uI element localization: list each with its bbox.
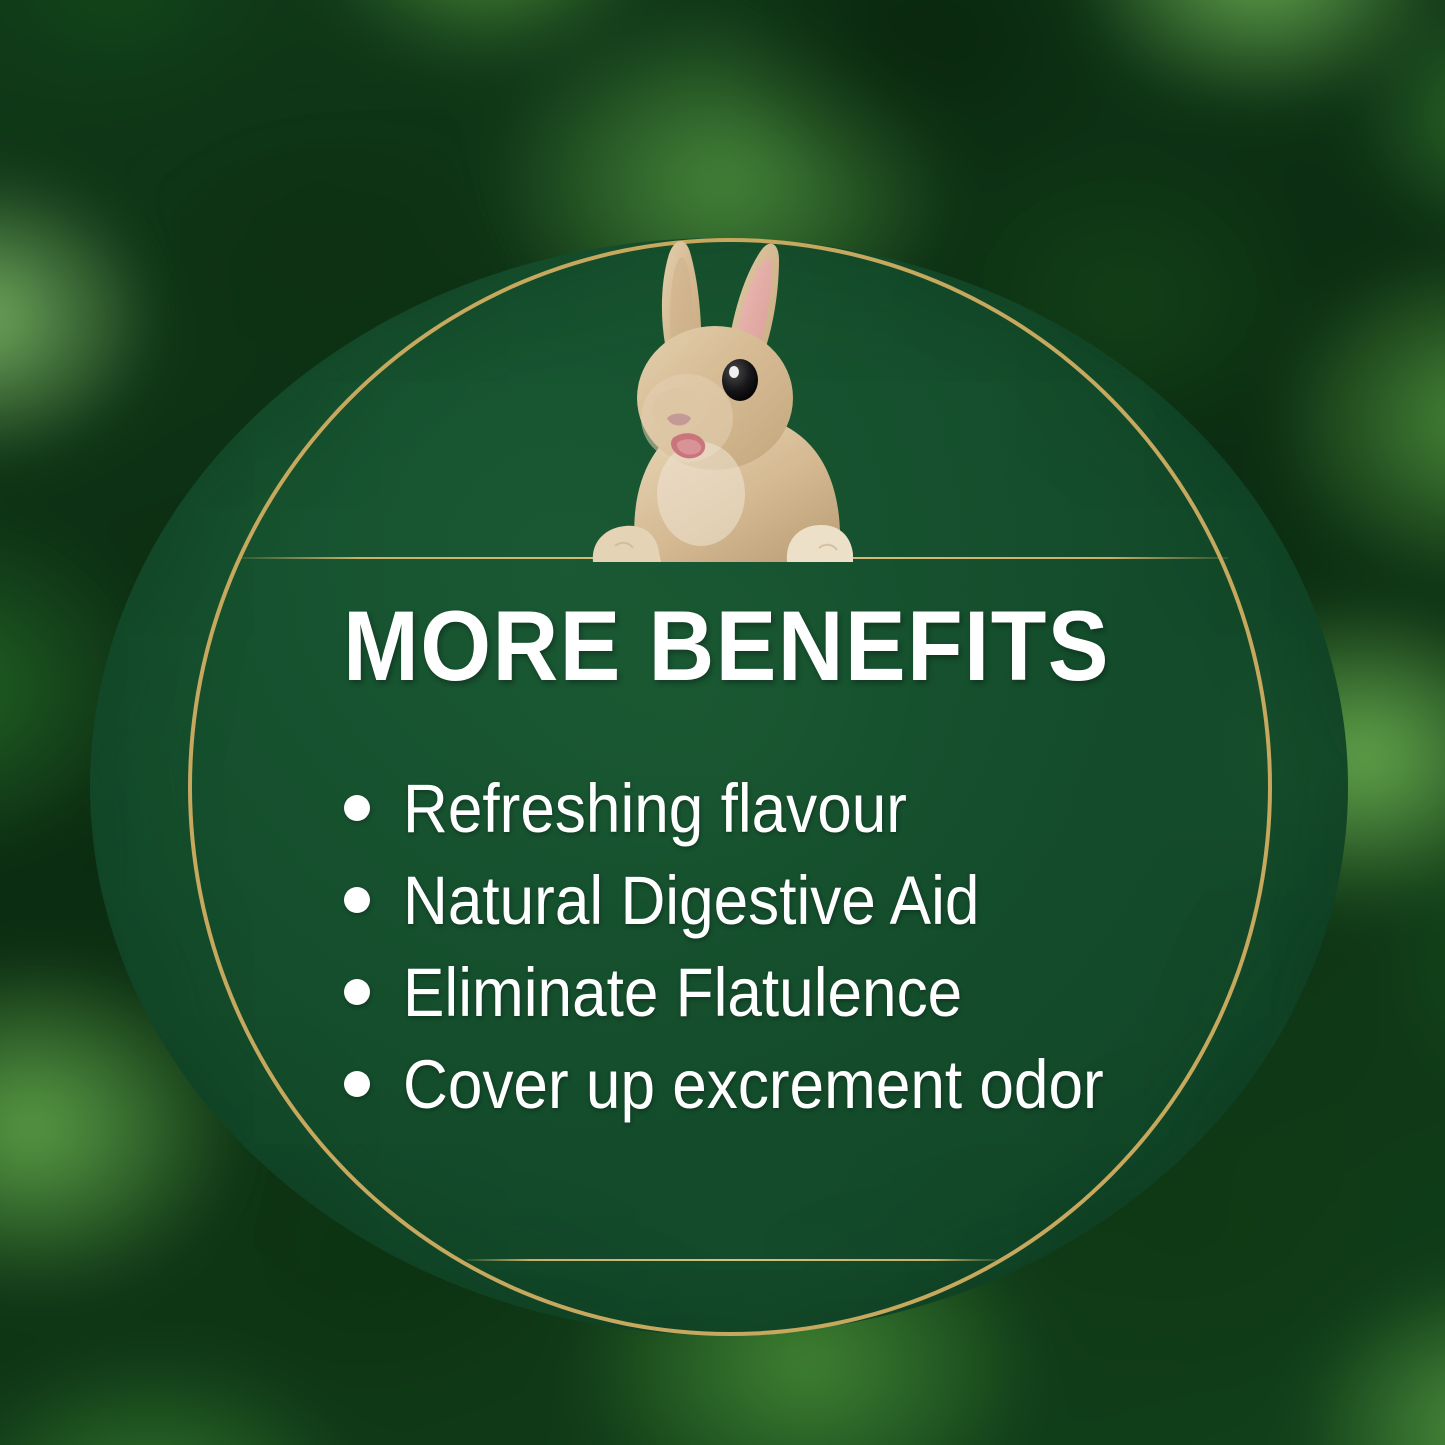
benefit-label: Eliminate Flatulence	[403, 958, 962, 1027]
benefit-label: Cover up excrement odor	[403, 1050, 1104, 1119]
benefit-label: Natural Digestive Aid	[403, 866, 979, 935]
rabbit-illustration	[575, 232, 865, 562]
bullet-dot-icon	[344, 1071, 370, 1097]
bullet-dot-icon	[344, 795, 370, 821]
benefit-label: Refreshing flavour	[403, 774, 907, 843]
list-item: Refreshing flavour	[344, 762, 1182, 854]
list-item: Eliminate Flatulence	[344, 946, 1182, 1038]
benefits-list: Refreshing flavour Natural Digestive Aid…	[344, 762, 1182, 1130]
list-item: Natural Digestive Aid	[344, 854, 1182, 946]
rabbit-eye	[722, 359, 758, 401]
page-title: MORE BENEFITS	[343, 596, 1110, 695]
bullet-dot-icon	[344, 979, 370, 1005]
bullet-dot-icon	[344, 887, 370, 913]
promo-card: MORE BENEFITS Refreshing flavour Natural…	[0, 0, 1445, 1445]
list-item: Cover up excrement odor	[344, 1038, 1182, 1130]
gold-divider-bottom	[467, 1259, 997, 1261]
